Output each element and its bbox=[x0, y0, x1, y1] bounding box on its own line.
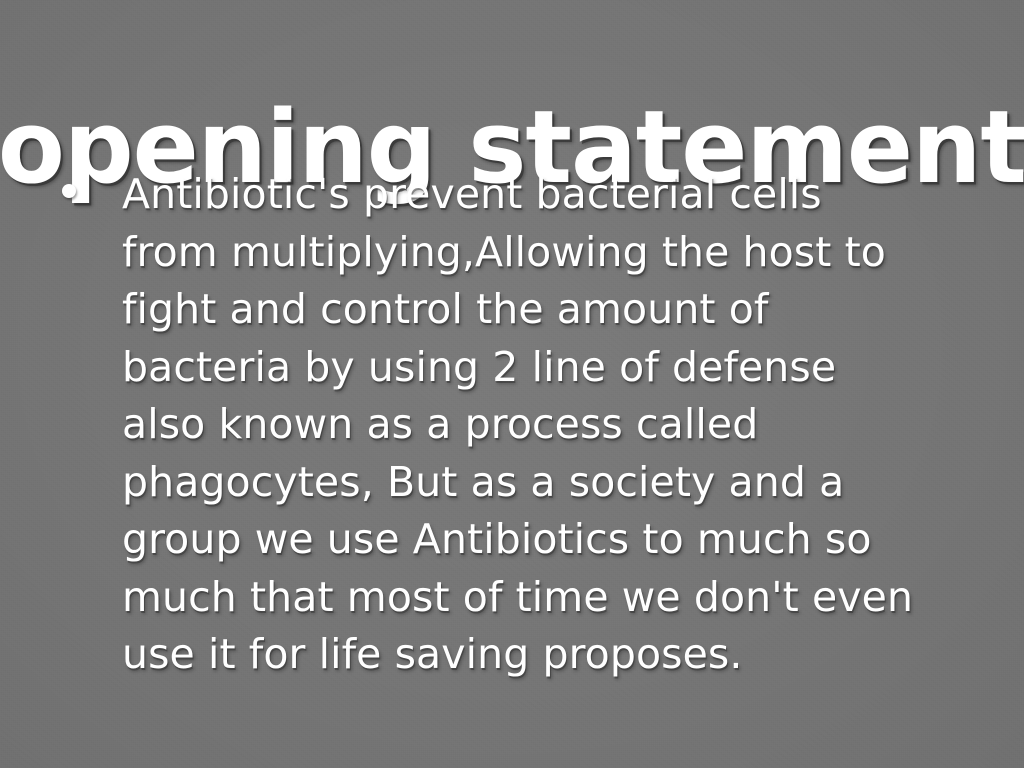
list-item: Antibiotic's prevent bacterial cells fro… bbox=[62, 166, 962, 684]
bullet-line: phagocytes, But as a society and a bbox=[122, 454, 962, 512]
bullet-line: Antibiotic's prevent bacterial cells bbox=[122, 166, 962, 224]
slide-canvas: opening statement Antibiotic's prevent b… bbox=[0, 0, 1024, 768]
slide-body: Antibiotic's prevent bacterial cells fro… bbox=[62, 166, 962, 684]
bullet-line: from multiplying,Allowing the host to bbox=[122, 224, 962, 282]
bullet-line: bacteria by using 2 line of defense bbox=[122, 339, 962, 397]
bullet-line: much that most of time we don't even bbox=[122, 569, 962, 627]
bullet-dot-icon bbox=[62, 184, 76, 198]
bullet-item-text: Antibiotic's prevent bacterial cells fro… bbox=[122, 166, 962, 684]
bullet-line: use it for life saving proposes. bbox=[122, 626, 962, 684]
bullet-line: fight and control the amount of bbox=[122, 281, 962, 339]
bullet-line: also known as a process called bbox=[122, 396, 962, 454]
bullet-line: group we use Antibiotics to much so bbox=[122, 511, 962, 569]
